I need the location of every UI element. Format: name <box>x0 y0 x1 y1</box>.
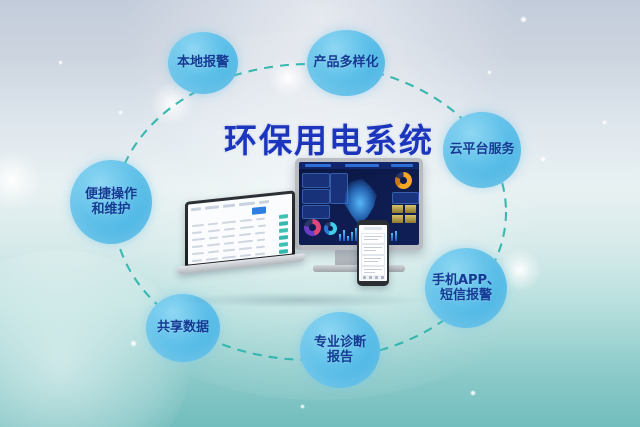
kpi-card <box>330 173 348 204</box>
sparkle <box>540 156 546 162</box>
node-label: 产品多样化 <box>313 55 378 70</box>
donut-chart <box>395 172 412 189</box>
node-easy-operation[interactable]: 便捷操作 和维护 <box>70 160 152 244</box>
donut-chart <box>304 219 321 236</box>
sparkle <box>602 120 607 125</box>
node-label-line1: 手机APP、 <box>432 273 500 288</box>
infographic-canvas: 本地报警 产品多样化 云平台服务 手机APP、 短信报警 专业诊断 报告 共享数… <box>0 0 640 427</box>
smartphone <box>357 220 389 286</box>
sparkle <box>487 70 492 75</box>
node-label-line1: 便捷操作 <box>85 187 137 202</box>
phone-list-item <box>361 255 385 266</box>
phone-list-item <box>361 244 385 255</box>
sparkle <box>130 340 137 347</box>
sparkle <box>118 110 123 115</box>
table-toolbar <box>191 196 289 214</box>
node-label-line2: 短信报警 <box>432 288 500 303</box>
laptop <box>185 190 297 274</box>
thumbnail <box>392 205 403 213</box>
node-local-alarm[interactable]: 本地报警 <box>168 32 238 94</box>
stat-card <box>392 192 419 204</box>
kpi-card <box>302 205 330 219</box>
device-cluster <box>185 158 440 318</box>
thumbnail <box>405 215 416 223</box>
dashboard-titlebar <box>299 162 419 169</box>
glow-top-center <box>268 58 308 98</box>
donut-chart <box>324 222 337 235</box>
phone-list-item <box>361 233 385 244</box>
node-label-line1: 专业诊断 <box>314 335 366 350</box>
sparkle <box>470 390 476 396</box>
node-cloud-platform[interactable]: 云平台服务 <box>443 112 521 188</box>
laptop-screen <box>188 194 292 265</box>
kpi-card <box>302 189 330 204</box>
page-title: 环保用电系统 <box>224 114 434 162</box>
node-diagnostic-report[interactable]: 专业诊断 报告 <box>300 312 380 388</box>
sparkle <box>300 404 305 409</box>
node-label-line2: 报告 <box>314 350 366 365</box>
sparkle <box>520 16 527 23</box>
phone-screen <box>359 225 387 281</box>
thumbnail <box>392 215 403 223</box>
toolbar-button <box>252 206 266 214</box>
phone-navbar <box>361 275 385 280</box>
node-label-line2: 和维护 <box>85 202 137 217</box>
kpi-card <box>302 173 330 188</box>
phone-header <box>364 227 382 230</box>
node-label: 云平台服务 <box>449 142 514 157</box>
node-product-diversity[interactable]: 产品多样化 <box>307 30 385 96</box>
node-label: 共享数据 <box>157 320 209 335</box>
thumbnail <box>405 205 416 213</box>
node-label: 本地报警 <box>177 55 229 70</box>
glow-left <box>0 150 42 210</box>
sparkle <box>58 60 63 65</box>
